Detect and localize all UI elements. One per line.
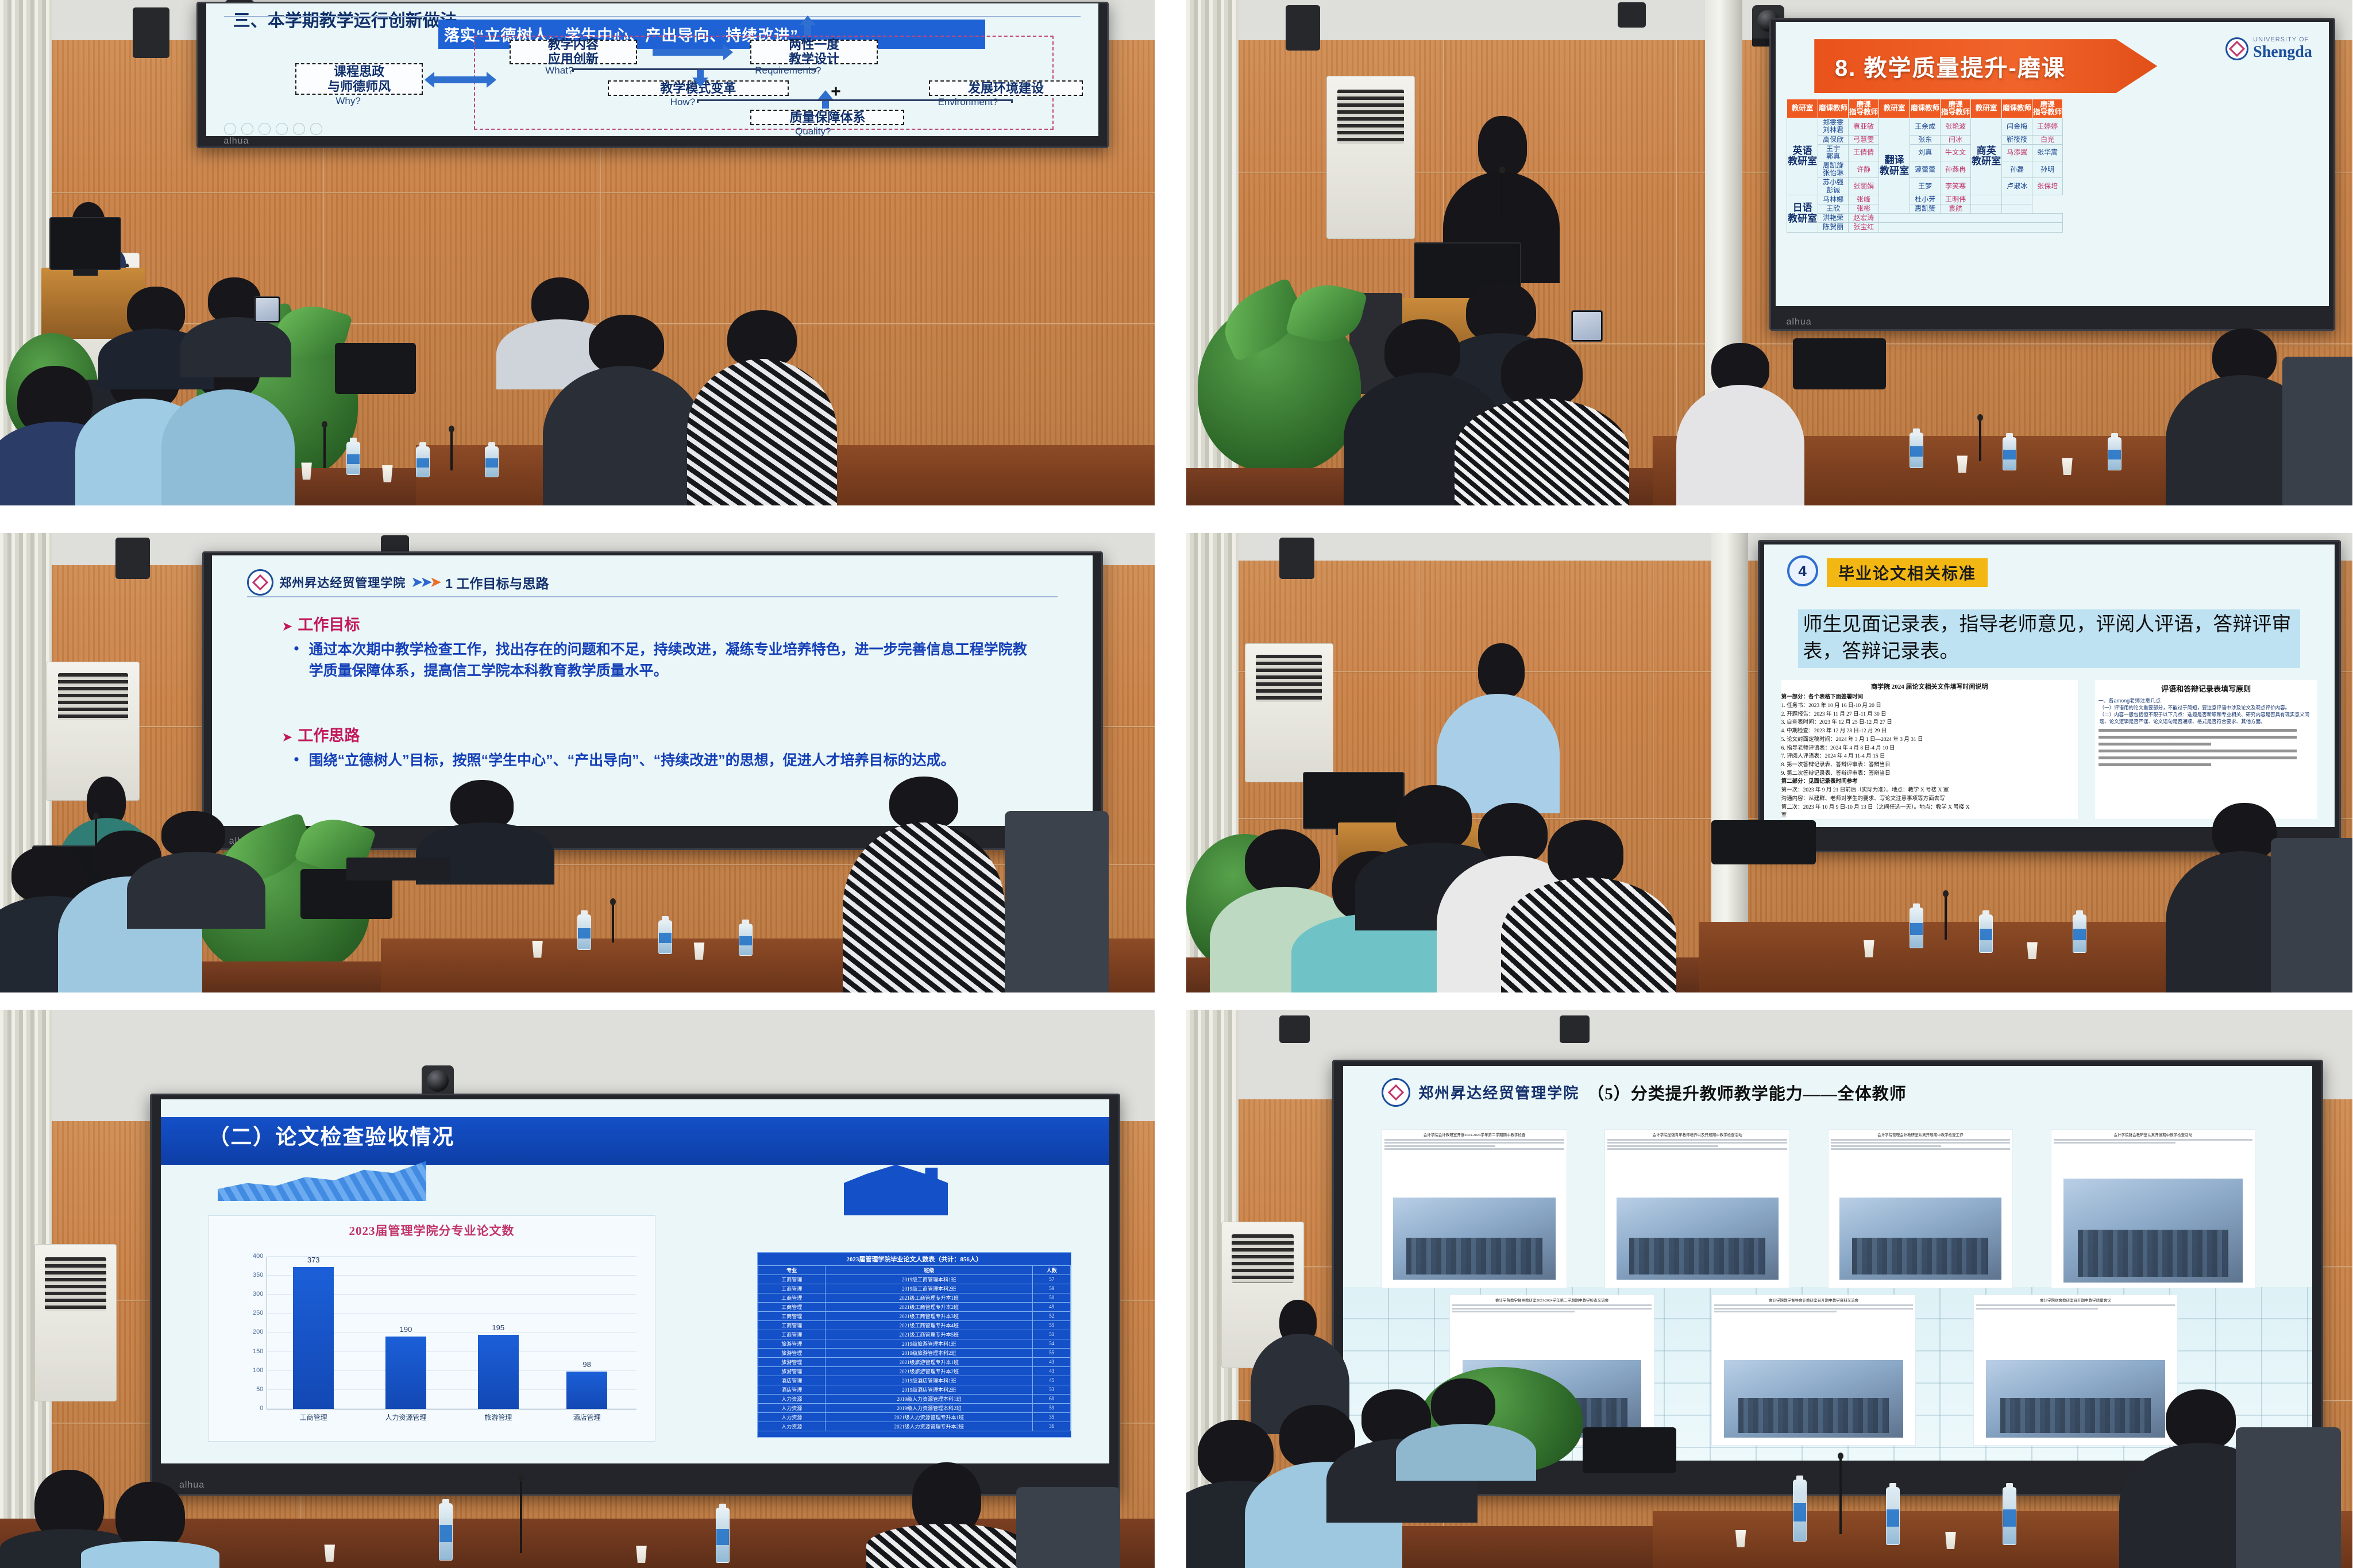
cell-group-english: 英语 教研室 xyxy=(1787,118,1818,195)
doc-line: 4. 中期检查：2023 年 12 月 28 日-12 月 29 日 xyxy=(1781,727,2078,736)
slide-thesis-inspection: （二）论文检查验收情况 2023届管理学院分专业论文数 0 50 100 150… xyxy=(161,1099,1109,1463)
wall-speaker-icon xyxy=(1279,1015,1310,1044)
podium xyxy=(23,891,133,956)
poster-photo xyxy=(1393,1198,1555,1280)
doc-line: （一）评语用的论文重要部分，不能过于简短，要注意评语中涉及论文及观点评价内容。 xyxy=(2100,704,2317,711)
wall-seam xyxy=(0,192,1155,194)
y-tick: 300 xyxy=(253,1291,267,1297)
ac-grille-icon xyxy=(45,1257,106,1311)
doc-line: 6. 指导老师评语表：2024 年 4 月 8 日-4 月 10 日 xyxy=(1781,744,2078,753)
poster-card: 会计学院财会教研室召开期中教学质量会议 xyxy=(1973,1295,2178,1446)
connector-line xyxy=(697,99,1013,103)
document-title: 评语和答辩记录表填写原则 xyxy=(2095,683,2317,694)
doc-line: 2. 开题报告：2023 年 11 月 27 日-11 月 30 日 xyxy=(1781,710,2078,719)
table-row: 工商管理2021级工商管理专升本4班55 xyxy=(758,1320,1071,1330)
more-icon[interactable] xyxy=(1448,1445,1460,1457)
slide-polishing-table: 8. 教学质量提升-磨课 UNIVERSITY OF Shengda 教研室 磨… xyxy=(1776,22,2329,306)
x-tick: 工商管理 xyxy=(300,1412,327,1422)
table-row: 人力资源2021级人力资源管理专升本2班36 xyxy=(758,1422,1071,1431)
collage-panel-5: （二）论文检查验收情况 2023届管理学院分专业论文数 0 50 100 150… xyxy=(0,1010,1155,1568)
play-icon[interactable] xyxy=(241,123,253,135)
crest-icon xyxy=(2225,37,2248,60)
box-requirements: 两性一度 教学设计 xyxy=(750,40,877,64)
zoom-icon[interactable] xyxy=(293,123,305,135)
y-tick: 0 xyxy=(260,1405,267,1412)
slideshow-toolbar[interactable] xyxy=(224,123,322,135)
podium xyxy=(1402,298,1530,369)
table-row: 旅游管理2021级旅游管理专升本1班43 xyxy=(758,1357,1071,1366)
slide-banner-text: （二）论文检查验收情况 xyxy=(208,1117,454,1157)
room-pillar xyxy=(1711,533,1749,992)
table-row: 陈贺丽张宝红 xyxy=(1787,223,2063,232)
document-title: 商学院 2024 届论文相关文件填写时间说明 xyxy=(1781,682,2078,691)
device-brand-label: alhua xyxy=(1787,317,1812,327)
bullet-head-1: 工作目标 xyxy=(283,612,360,635)
table-caption: 2023届管理学院毕业论文人数表（共计：856人） xyxy=(758,1253,1071,1265)
bar-1: 190 人力资源管理 xyxy=(385,1337,426,1409)
polishing-table: 教研室 磨课教师 磨课 指导教师 教研室 磨课教师 磨课 指导教师 教研室 磨课… xyxy=(1787,99,2063,233)
building-icon xyxy=(844,1165,948,1216)
cell: 李笑寒 xyxy=(1941,178,1971,195)
bar-0: 373 工商管理 xyxy=(293,1267,334,1409)
doc-line: 7. 评阅人评语表：2024 年 4 月 11-4 月 15 日 xyxy=(1781,752,2078,761)
th-7: 磨课教师 xyxy=(2002,99,2032,118)
presentation-display-4: 4 毕业论文相关标准 师生见面记录表，指导老师意见，评阅人评语，答辩评审表，答辩… xyxy=(1758,540,2341,852)
air-conditioner xyxy=(1326,76,1415,239)
cell: 洪艳荣 xyxy=(1818,214,1849,223)
box-quality: 质量保障体系 xyxy=(750,110,904,125)
wall-speaker-icon xyxy=(1279,538,1314,579)
cell-empty xyxy=(1879,223,2063,232)
doc-line: 1. 任务书：2023 年 10 月 16 日-10 月 20 日 xyxy=(1781,702,2078,710)
poster-title: 会计学院教学督导教研室2023-2024学年第二学期期中教学检查交流会 xyxy=(1451,1297,1652,1303)
x-tick: 旅游管理 xyxy=(484,1412,512,1422)
cell: 王余成 xyxy=(1910,118,1941,135)
doc-line: 室 xyxy=(1781,812,2078,818)
x-tick: 酒店管理 xyxy=(573,1412,601,1422)
th-5: 磨课 指导教师 xyxy=(1941,99,1971,118)
wall-speaker-icon xyxy=(1286,5,1321,51)
th-count: 人数 xyxy=(1033,1265,1071,1275)
slide-banner: （二）论文检查验收情况 xyxy=(161,1117,1109,1164)
cell: 刘真 xyxy=(1910,144,1941,161)
poster-title: 会计学院加强青年教师培养以及开展期中教学检查活动 xyxy=(1606,1131,1788,1137)
table-header-row: 专业 班级 人数 xyxy=(758,1265,1071,1275)
table-row: 工商管理2021级工商管理专升本3班52 xyxy=(758,1311,1071,1320)
window-curtain xyxy=(1186,533,1239,992)
doc-line: 8. 第一次答辩记录表、答辩评审表：答辩当日 xyxy=(1781,761,2078,770)
display-screen: 4 毕业论文相关标准 师生见面记录表，指导老师意见，评阅人评语，答辩评审表，答辩… xyxy=(1764,544,2335,828)
slide-thesis-standards: 4 毕业论文相关标准 师生见面记录表，指导老师意见，评阅人评语，答辩评审表，答辩… xyxy=(1764,544,2335,828)
y-tick: 50 xyxy=(256,1386,267,1393)
doc-line: 第一次：2023 年 9 月 21 日前后（实际为准）。地点：教学 X 号楼 X… xyxy=(1781,786,2078,795)
cell: 袁航 xyxy=(1941,204,1971,214)
collage-panel-4: 4 毕业论文相关标准 师生见面记录表，指导老师意见，评阅人评语，答辩评审表，答辩… xyxy=(1186,533,2352,992)
bar-chart: 2023届管理学院分专业论文数 0 50 100 150 200 250 300… xyxy=(208,1215,655,1441)
cell: 张艳波 xyxy=(1941,118,1971,135)
presentation-display-2: 8. 教学质量提升-磨课 UNIVERSITY OF Shengda 教研室 磨… xyxy=(1769,18,2335,331)
box-environment: 发展环境建设 xyxy=(929,80,1083,96)
th-3: 教研室 xyxy=(1879,99,1910,118)
podium xyxy=(41,268,145,338)
display-screen: 8. 教学质量提升-磨课 UNIVERSITY OF Shengda 教研室 磨… xyxy=(1776,22,2329,306)
th-4: 磨课教师 xyxy=(1910,99,1941,118)
poster-card: 会计学院教学督导教研室2023-2024学年第二学期期中教学检查交流会 xyxy=(1449,1295,1654,1446)
chart-plot-area: 0 50 100 150 200 250 300 350 400 373 工商管 xyxy=(267,1257,637,1409)
device-brand-label: alhua xyxy=(1775,838,1800,848)
table-row: 工商管理2021级工商管理专升本1班50 xyxy=(758,1293,1071,1302)
table-row: 工商管理2021级工商管理专升本2班49 xyxy=(758,1302,1071,1311)
chevron-right-icon: ➤➤➤ xyxy=(411,574,439,590)
poster-photo xyxy=(1724,1360,1903,1438)
bar-3: 98 酒店管理 xyxy=(566,1372,607,1409)
section-badge: 4 xyxy=(1787,555,1818,586)
cell: 马添翼 xyxy=(2002,144,2032,161)
ac-grille-icon xyxy=(1232,1234,1294,1284)
label-how: How? xyxy=(670,96,695,108)
chart-title: 2023届管理学院分专业论文数 xyxy=(209,1222,654,1239)
th-class: 班级 xyxy=(826,1265,1033,1275)
cell: 张宝红 xyxy=(1849,223,1879,232)
thesis-count-table: 2023届管理学院毕业论文人数表（共计：856人） 专业 班级 人数 工商管理2… xyxy=(757,1252,1071,1438)
table-row: 旅游管理2021级旅游管理专升本2班43 xyxy=(758,1366,1071,1376)
text-line-placeholder xyxy=(2099,729,2314,732)
slide-header: 郑州昇达经贸管理学院 ➤➤➤ 1 工作目标与思路 xyxy=(247,569,1058,596)
poster-photo xyxy=(1986,1360,2165,1438)
wall-seam xyxy=(0,323,1155,325)
cell: 王欣 xyxy=(1818,204,1849,214)
y-tick: 150 xyxy=(253,1348,267,1355)
table-row: 苏小强 彭诚张丽娟 王梦李笑寒 卢淑冰张保培 xyxy=(1787,178,2063,195)
text-line-placeholder xyxy=(2099,763,2221,766)
poster-title: 会计学院管理会计教研室认真开展期中教学检查工作 xyxy=(1830,1131,2012,1137)
x-tick: 人力资源管理 xyxy=(385,1412,426,1422)
slide-poster-wall: 郑州昇达经贸管理学院 （5）分类提升教师教学能力——全体教师 会计学院会计教研室… xyxy=(1343,1066,2313,1461)
slide-title: 三、本学期教学运行创新做法 xyxy=(233,6,457,32)
cell: 周凯旋 张怡琳 xyxy=(1818,161,1849,178)
screen-icon[interactable] xyxy=(1414,1445,1426,1457)
window-curtain xyxy=(0,0,52,505)
cell: 闫冰 xyxy=(1941,135,1971,144)
device-brand-label: alhua xyxy=(229,836,254,847)
y-tick: 350 xyxy=(253,1272,267,1279)
room-pillar xyxy=(1705,0,1742,505)
table-row: 旅游管理2019级旅游管理本科2班55 xyxy=(758,1348,1071,1357)
doc-line: 沟通内容：从建群、老师对学生的要求、写论文注意事项等方面去写 xyxy=(1781,795,2078,804)
collage-panel-2: 8. 教学质量提升-磨课 UNIVERSITY OF Shengda 教研室 磨… xyxy=(1186,0,2352,505)
arrow-up-to-banner xyxy=(804,25,811,35)
university-logo: UNIVERSITY OF Shengda xyxy=(2225,36,2312,61)
bullet-head-2: 工作思路 xyxy=(283,723,360,746)
table-row: 人力资源2021级人力资源管理专升本1班35 xyxy=(758,1412,1071,1422)
table-row: 酒店管理2019级酒店管理本科2班53 xyxy=(758,1385,1071,1394)
cell: 弓慧雯 xyxy=(1849,135,1879,144)
presentation-display-5: （二）论文检查验收情况 2023届管理学院分专业论文数 0 50 100 150… xyxy=(150,1094,1120,1496)
ac-grille-icon xyxy=(1337,90,1404,145)
podium-monitor xyxy=(1303,772,1405,829)
bullet-body-1: 通过本次期中教学检查工作，找出存在的问题和不足，持续改进，凝练专业培养特色，进一… xyxy=(309,639,1040,681)
doc-line: 第一部分：各个表格下面签署时间 xyxy=(1781,693,2078,702)
air-conditioner xyxy=(34,1244,117,1401)
cell: 陈贺丽 xyxy=(1818,223,1849,232)
crest-icon xyxy=(247,569,273,596)
arrow-what-to-requirements xyxy=(653,49,724,56)
device-brand-label: alhua xyxy=(179,1480,205,1490)
poster-photo xyxy=(2063,1179,2243,1283)
cell-group-business-english: 商英 教研室 xyxy=(1971,118,2002,195)
table-row: 工商管理2019级工商管理本科2班59 xyxy=(758,1284,1071,1293)
cell: 孙磊 xyxy=(2002,161,2032,178)
display-screen: （二）论文检查验收情况 2023届管理学院分专业论文数 0 50 100 150… xyxy=(161,1099,1109,1463)
slide-heading-arrow: 8. 教学质量提升-磨课 xyxy=(1814,39,2157,93)
bar-value: 195 xyxy=(492,1323,504,1332)
ac-grille-icon xyxy=(58,673,128,720)
slide-title: 毕业论文相关标准 xyxy=(1827,558,1988,587)
wall-speaker-icon xyxy=(1618,2,1646,28)
device-brand-label: alhua xyxy=(223,136,249,146)
y-tick: 200 xyxy=(253,1328,267,1335)
wall-seam-vertical xyxy=(1676,40,1678,505)
photo-collage: 三、本学期教学运行创新做法 落实“立德树人、学生中心、产出导向、持续改进” 课程… xyxy=(0,0,2353,1568)
slideshow-toolbar[interactable] xyxy=(1362,1445,1460,1457)
growth-chart-decoration-icon xyxy=(218,1161,426,1201)
bar-2: 195 旅游管理 xyxy=(478,1335,519,1409)
speaker-body xyxy=(1251,1334,1350,1434)
text-line-placeholder xyxy=(2099,743,2221,746)
university-name: 郑州昇达经贸管理学院 xyxy=(279,574,406,591)
cell: 王宇 郭真 xyxy=(1818,144,1849,161)
table-row: 周凯旋 张怡琳许静 蘧蕾蕾孙燕冉 孙磊孙明 xyxy=(1787,161,2063,178)
doc-line: 3. 自查表时间：2023 年 12 月 25 日-12 月 27 日 xyxy=(1781,719,2078,727)
cell: 袁亚敏 xyxy=(1849,118,1879,135)
zoom-icon[interactable] xyxy=(1431,1445,1443,1457)
cell-group-japanese: 日语 教研室 xyxy=(1787,195,1818,232)
th-1: 磨课教师 xyxy=(1818,99,1849,118)
box-what: 教学内容 应用创新 xyxy=(510,40,637,64)
cell: 张彬 xyxy=(1849,204,1879,214)
th-6: 教研室 xyxy=(1971,99,2002,118)
cell: 苏小强 彭诚 xyxy=(1818,178,1849,195)
poster-title: 会计学院会计教研室开展2023-2024学年第二学期期中教学检查 xyxy=(1383,1131,1565,1137)
logo-name-text: Shengda xyxy=(2253,43,2312,61)
table-row: 高保欣弓慧雯 张东闫冰 靳筱筱白光 xyxy=(1787,135,2063,144)
cell xyxy=(1971,204,2002,214)
document-left: 商学院 2024 届论文相关文件填写时间说明 第一部分：各个表格下面签署时间 1… xyxy=(1781,680,2078,819)
y-tick: 100 xyxy=(253,1367,267,1374)
cell xyxy=(2002,195,2032,204)
slide-work-goals: 郑州昇达经贸管理学院 ➤➤➤ 1 工作目标与思路 工作目标 通过本次期中教学检查… xyxy=(212,555,1093,826)
box-why: 课程思政 与师德师风 xyxy=(295,63,422,95)
cell: 牛文文 xyxy=(1941,144,1971,161)
arrow-bidirectional xyxy=(434,76,487,83)
podium-monitor xyxy=(49,217,121,270)
label-why: Why? xyxy=(335,95,360,107)
doc-line: 9. 第二次答辩记录表、答辩评审表：答辩当日 xyxy=(1781,770,2078,778)
poster-card: 会计学院教学督导会计教研室召开期中教学资料交流会 xyxy=(1711,1295,1916,1446)
doc-line: 5. 论文封面定稿时间：2024 年 3 月 1 日—2024 年 3 月 31… xyxy=(1781,736,2078,744)
pen-icon[interactable] xyxy=(1397,1445,1409,1457)
th-major: 专业 xyxy=(758,1265,826,1275)
table-row: 旅游管理2019级旅游管理本科1班54 xyxy=(758,1339,1071,1348)
th-0: 教研室 xyxy=(1787,99,1818,118)
text-line-placeholder xyxy=(2099,736,2314,739)
cell: 高保欣 xyxy=(1818,135,1849,144)
cell: 闫金梅 xyxy=(2002,118,2032,135)
bar-value: 373 xyxy=(307,1256,320,1264)
table-row: 王宇 郭真王倩倩 刘真牛文文 马添翼张华嵩 xyxy=(1787,144,2063,161)
table-row: 洪艳荣赵宏涛 xyxy=(1787,214,2063,223)
speaker-body xyxy=(1437,694,1559,813)
poster-photo xyxy=(1463,1360,1642,1438)
doc-line: 第二部分：见面记录表时间参考 xyxy=(1781,778,2078,786)
prev-icon[interactable] xyxy=(224,123,236,135)
poster-photo xyxy=(1839,1198,2001,1280)
table-row: 王欣张彬 惠凯赟袁航 xyxy=(1787,204,2063,214)
display-screen: 郑州昇达经贸管理学院 （5）分类提升教师教学能力——全体教师 会计学院会计教研室… xyxy=(1343,1066,2313,1461)
cell-group-translation: 翻译 教研室 xyxy=(1879,118,1910,214)
podium xyxy=(1338,822,1478,882)
cell xyxy=(1971,195,2002,204)
window-curtain xyxy=(1186,0,1239,505)
poster-card: 会计学院加强青年教师培养以及开展期中教学检查活动 xyxy=(1604,1129,1790,1288)
text-line-placeholder xyxy=(2099,750,2314,752)
poster-title: 会计学院教学督导会计教研室召开期中教学资料交流会 xyxy=(1713,1297,1914,1303)
presentation-display-1: 三、本学期教学运行创新做法 落实“立德树人、学生中心、产出导向、持续改进” 课程… xyxy=(196,2,1109,148)
cell: 张东 xyxy=(1910,135,1941,144)
cell: 杜小芳 xyxy=(1910,195,1941,204)
wall-seam-vertical xyxy=(1419,561,1421,992)
poster-card: 会计学院管理会计教研室认真开展期中教学检查工作 xyxy=(1828,1129,2013,1288)
label-what: What? xyxy=(545,65,573,76)
cell: 张华嵩 xyxy=(2032,144,2063,161)
wall-speaker-icon xyxy=(115,538,150,579)
cell: 孙燕冉 xyxy=(1941,161,1971,178)
label-quality: Quality? xyxy=(795,126,831,137)
cell: 王梦 xyxy=(1910,178,1941,195)
table-row: 人力资源2019级人力资源管理本科2班59 xyxy=(758,1403,1071,1412)
display-screen: 郑州昇达经贸管理学院 ➤➤➤ 1 工作目标与思路 工作目标 通过本次期中教学检查… xyxy=(212,555,1093,826)
collage-panel-3: 郑州昇达经贸管理学院 ➤➤➤ 1 工作目标与思路 工作目标 通过本次期中教学检查… xyxy=(0,533,1155,992)
presentation-display-6: 郑州昇达经贸管理学院 （5）分类提升教师教学能力——全体教师 会计学院会计教研室… xyxy=(1332,1060,2324,1495)
cell: 王倩倩 xyxy=(1849,144,1879,161)
poster-photo xyxy=(1617,1198,1779,1280)
cell: 卢淑冰 xyxy=(2002,178,2032,195)
y-tick: 400 xyxy=(253,1253,267,1260)
y-tick: 250 xyxy=(253,1310,267,1316)
wall-seam xyxy=(0,864,1155,866)
document-right: 评语和答辩记录表填写原则 一、各among老师注意几点 （一）评语用的论文重要部… xyxy=(2095,680,2317,819)
table-row: 工商管理2019级工商管理本科1班57 xyxy=(758,1275,1071,1284)
collage-panel-1: 三、本学期教学运行创新做法 落实“立德树人、学生中心、产出导向、持续改进” 课程… xyxy=(0,0,1155,505)
speaker-head xyxy=(1478,643,1525,698)
table-row: 工商管理2021级工商管理专升本5班51 xyxy=(758,1330,1071,1339)
air-conditioner xyxy=(1245,643,1333,782)
connector-line xyxy=(572,68,816,72)
poster-title: 会计学院财会教研室认真开展期中教学检查活动 xyxy=(2053,1131,2254,1137)
slide-header: 郑州昇达经贸管理学院 （5）分类提升教师教学能力——全体教师 xyxy=(1382,1078,2283,1107)
doc-line: 一、各among老师注意几点 xyxy=(2099,697,2317,704)
wall-speaker-icon xyxy=(1560,1015,1590,1044)
floor-speaker xyxy=(1349,293,1402,394)
pen-icon[interactable] xyxy=(259,123,271,135)
section-title: 1 工作目标与思路 xyxy=(445,573,549,592)
speaker-body xyxy=(104,1518,196,1568)
poster-card: 会计学院会计教研室开展2023-2024学年第二学期期中教学检查 xyxy=(1382,1129,1567,1288)
bar-value: 190 xyxy=(400,1325,412,1334)
th-2: 磨课 指导教师 xyxy=(1849,99,1879,118)
cell: 靳筱筱 xyxy=(2002,135,2032,144)
doc-line: （二）内容一般包括但不限于以下几点：选题是否新颖和专业相关、研究内容是否具有现实… xyxy=(2100,711,2317,725)
crest-icon xyxy=(1382,1078,1410,1107)
air-conditioner xyxy=(46,662,140,801)
screen-icon[interactable] xyxy=(276,123,288,135)
table-row: 酒店管理2019级酒店管理本科1班45 xyxy=(758,1376,1071,1385)
table-row: 日语 教研室 马林娜张峰 杜小芳王明伟 xyxy=(1787,195,2063,204)
table-row: 人力资源2019级人力资源管理本科1班60 xyxy=(758,1394,1071,1403)
cell: 张峰 xyxy=(1849,195,1879,204)
bar-value: 98 xyxy=(583,1360,591,1369)
text-line-placeholder xyxy=(2099,756,2314,759)
cell: 许静 xyxy=(1849,161,1879,178)
cell: 王婷婷 xyxy=(2032,118,2063,135)
cell: 蘧蕾蕾 xyxy=(1910,161,1941,178)
title-underline xyxy=(224,16,1081,17)
bullet-body-2: 围绕“立德树人”目标，按照“学生中心”、“产出导向”、“持续改进”的思想，促进人… xyxy=(309,750,1040,771)
cell: 张保培 xyxy=(2032,178,2063,195)
logo-top-text: UNIVERSITY OF xyxy=(2253,36,2312,43)
cell: 孙明 xyxy=(2032,161,2063,178)
collage-panel-6: 郑州昇达经贸管理学院 （5）分类提升教师教学能力——全体教师 会计学院会计教研室… xyxy=(1186,1010,2352,1568)
ac-grille-icon xyxy=(1256,655,1322,702)
slide-lead-text: 师生见面记录表，指导老师意见，评阅人评语，答辩评审表，答辩记录表。 xyxy=(1798,609,2300,668)
handheld-microphone xyxy=(1501,172,1503,217)
device-brand-label: alhua xyxy=(1362,1480,1387,1490)
university-name: 郑州昇达经贸管理学院 xyxy=(1418,1082,1579,1103)
slide-flowchart: 三、本学期教学运行创新做法 落实“立德树人、学生中心、产出导向、持续改进” 课程… xyxy=(206,3,1098,136)
poster-title: 会计学院财会教研室召开期中教学质量会议 xyxy=(1975,1297,2176,1303)
presentation-display-3: 郑州昇达经贸管理学院 ➤➤➤ 1 工作目标与思路 工作目标 通过本次期中教学检查… xyxy=(202,551,1103,850)
prev-icon[interactable] xyxy=(1362,1445,1374,1457)
cell: 赵宏涛 xyxy=(1849,214,1879,223)
header-underline xyxy=(247,596,1058,597)
cell: 白光 xyxy=(2032,135,2063,144)
doc-line: 第二次：2023 年 10 月 9 日-10 月 13 日（之间任选一天）。地点… xyxy=(1781,804,2078,812)
cell xyxy=(2002,204,2032,214)
poster-card: 会计学院财会教研室认真开展期中教学检查活动 xyxy=(2051,1129,2255,1288)
th-8: 磨课 指导教师 xyxy=(2032,99,2063,118)
cell: 王明伟 xyxy=(1941,195,1971,204)
play-icon[interactable] xyxy=(1379,1445,1391,1457)
cell: 惠凯赟 xyxy=(1910,204,1941,214)
cell: 郑雯雯 刘林君 xyxy=(1818,118,1849,135)
display-screen: 三、本学期教学运行创新做法 落实“立德树人、学生中心、产出导向、持续改进” 课程… xyxy=(206,3,1098,136)
table-header-row: 教研室 磨课教师 磨课 指导教师 教研室 磨课教师 磨课 指导教师 教研室 磨课… xyxy=(1787,99,2063,118)
wall-seam-vertical xyxy=(1653,561,1654,992)
cell-empty xyxy=(1879,214,2063,223)
wall-speaker-icon xyxy=(133,7,169,58)
cell: 马林娜 xyxy=(1818,195,1849,204)
more-icon[interactable] xyxy=(310,123,322,135)
cell: 张丽娟 xyxy=(1849,178,1879,195)
table-row: 英语 教研室 郑雯雯 刘林君 袁亚敏 翻译 教研室 王余成 张艳波 商英 教研室… xyxy=(1787,118,2063,135)
slide-title: （5）分类提升教师教学能力——全体教师 xyxy=(1587,1080,1907,1104)
